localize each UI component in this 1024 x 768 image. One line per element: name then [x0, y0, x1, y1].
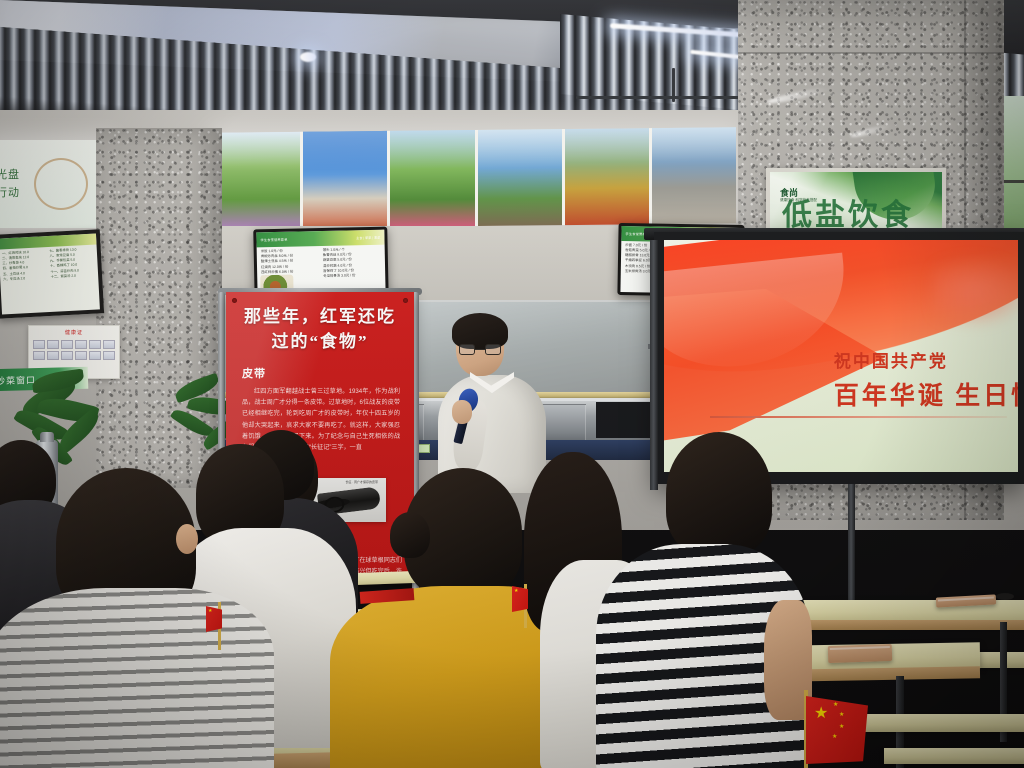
- health-cert-cell: [61, 340, 73, 349]
- pen: [996, 593, 1014, 600]
- banner-title-line1: 那些年，红军还吃: [236, 306, 404, 329]
- lightbox-photo: [478, 129, 565, 226]
- slide-underline: [710, 416, 1007, 417]
- banner-photo-caption: 长征 · 周广才保存的皮带: [345, 480, 378, 484]
- lightbox-photo: [303, 131, 390, 228]
- health-cert-cell: [47, 351, 59, 360]
- lightbox-photo-strip: [216, 127, 736, 228]
- audience-head: [390, 512, 430, 558]
- audience-torso: [0, 588, 274, 768]
- flag-cloth: ★ ★ ★ ★ ★: [806, 696, 868, 764]
- health-cert-cell: [47, 340, 59, 349]
- paper-menu-row: 十二、紫菜汤 2.0: [51, 273, 96, 281]
- menu-header-left: 学生食堂营养菜单: [260, 237, 287, 243]
- banner-eyelet: [232, 298, 237, 303]
- table-back-right-edge: [788, 620, 1024, 630]
- audience-head: [666, 432, 772, 556]
- menu-header-right: 主食 | 荤菜 | 素菜: [356, 235, 380, 241]
- bench-front-right-2: [884, 748, 1024, 764]
- projection-screen-pole-left: [650, 240, 658, 490]
- notebook: [828, 644, 893, 663]
- menu-row: 冬瓜排骨汤 3.0元 / 份: [323, 273, 381, 279]
- menu-column-right: 馒头 1.0元 / 个 鱼香肉丝 9.0元 / 份 麻婆豆腐 5.0元 / 份 …: [323, 247, 382, 280]
- ceiling-truss-2: [672, 68, 675, 102]
- left-lightbox-sign: 光盘 行动: [0, 140, 110, 228]
- health-cert-cell: [89, 340, 101, 349]
- left-lightbox-text: 光盘: [0, 166, 20, 182]
- projection-screen-leg: [848, 484, 855, 610]
- flag-star-small: ★: [839, 724, 844, 730]
- column-highlight-1: [766, 85, 830, 105]
- ceiling-light-spot: [300, 52, 316, 62]
- flag-star-small: ★: [832, 734, 837, 740]
- glasses-icon: [459, 344, 501, 355]
- paper-menu-rows: 一、红烧鸡块 10.0 二、清蒸鱼块 12.0 三、炒青菜 4.0 四、番茄炒蛋…: [0, 244, 98, 285]
- counter-appliance: [596, 402, 658, 438]
- flag-star-big: ★: [814, 706, 828, 722]
- audience-ear: [176, 524, 198, 554]
- column-highlight-2: [850, 123, 892, 139]
- lightbox-photo: [216, 132, 303, 229]
- health-board-title: 健康证: [29, 329, 119, 336]
- lightbox-photo: [652, 127, 736, 224]
- flag-star-small: ★: [839, 712, 844, 718]
- health-cert-cell: [75, 351, 87, 360]
- paper-menu-board: 一、红烧鸡块 10.0 二、清蒸鱼块 12.0 三、炒青菜 4.0 四、番茄炒蛋…: [0, 229, 104, 318]
- left-lightbox-text2: 行动: [0, 184, 20, 200]
- slide-line-2: 百年华诞 生日快乐: [834, 376, 1018, 412]
- plate-circle-icon: [34, 158, 88, 210]
- flag-cloth: ★: [206, 606, 222, 632]
- slide-line-1: 祝中国共产党: [834, 347, 1018, 372]
- presenter-hand: [452, 400, 472, 424]
- lightbox-photo: [565, 128, 652, 225]
- health-cert-cell: [103, 351, 115, 360]
- flag-star: ★: [208, 609, 212, 614]
- banner-section-heading: 皮带: [242, 365, 414, 381]
- health-cert-cell: [33, 340, 45, 349]
- flag-star: ★: [514, 589, 518, 594]
- health-cert-cell: [89, 351, 101, 360]
- health-cert-cell: [61, 351, 73, 360]
- banner-title-line2: 过的“食物”: [236, 331, 404, 354]
- plant-leaf: [31, 368, 85, 393]
- health-cert-cell: [75, 340, 87, 349]
- banner-eyelet: [403, 298, 408, 303]
- flag-star-small: ★: [833, 702, 838, 708]
- health-cert-cell: [103, 340, 115, 349]
- slide-text-block: 祝中国共产党 百年华诞 生日快乐: [834, 347, 1018, 412]
- photo-scene: 光盘 行动 食尚 健康饮食 科学营养搭配 低盐饮食 学生食堂营养菜单 主食 | …: [0, 0, 1024, 768]
- flag-cloth: ★: [512, 586, 528, 612]
- low-salt-diet-poster: 食尚 健康饮食 科学营养搭配 低盐饮食: [766, 168, 946, 234]
- ribbon-glow: [933, 254, 1018, 328]
- lightbox-photo: [390, 130, 477, 227]
- health-cert-cell: [33, 351, 45, 360]
- paper-menu-row: 六、冬瓜汤 2.0: [3, 275, 48, 283]
